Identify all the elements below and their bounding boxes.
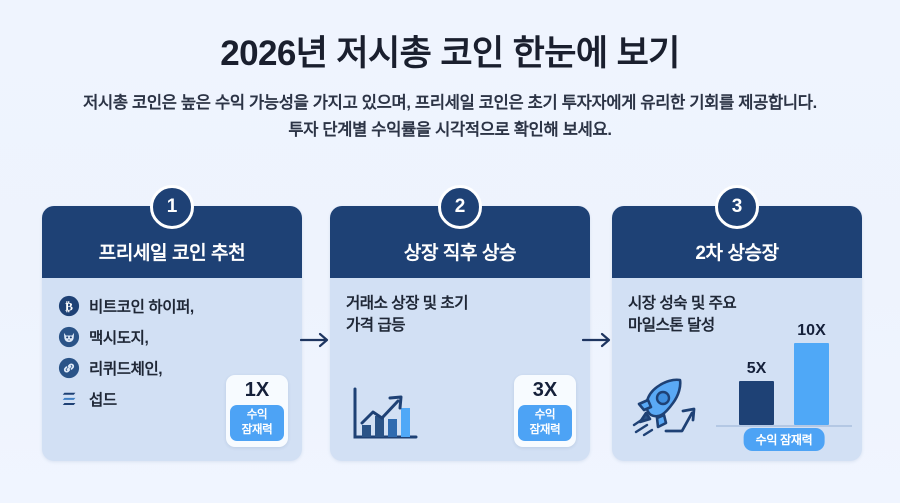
bar-value-label: 10X <box>797 322 825 340</box>
bar-column-10x: 10X <box>794 322 829 425</box>
step-card-1-body: ₿ 비트코인 하이퍼, 맥시도지, <box>42 278 302 461</box>
solana-icon <box>58 388 80 410</box>
bar-value-label: 5X <box>747 360 767 378</box>
profit-potential-pill: 수익 잠재력 <box>744 428 825 451</box>
coin-name: 리퀴드체인, <box>89 357 162 379</box>
step-card-3-body: 시장 성숙 및 주요 마일스톤 달성 <box>612 278 862 461</box>
multiplier-value: 3X <box>518 380 572 401</box>
description-line-1: 시장 성숙 및 주요 <box>628 293 846 315</box>
list-item: 맥시도지, <box>58 326 286 348</box>
profit-potential-pill: 수익 잠재력 <box>518 405 572 441</box>
chain-link-icon <box>58 357 80 379</box>
step-card-2: 2 상장 직후 상승 거래소 상장 및 초기 가격 급등 <box>330 206 590 461</box>
multiplier-value: 1X <box>230 380 284 401</box>
coin-name: 맥시도지, <box>89 326 148 348</box>
bar-chart-plot-area: 5X 10X <box>716 335 852 427</box>
step-number-3: 3 <box>715 185 759 229</box>
pill-line-2: 잠재력 <box>520 423 570 437</box>
shiba-dog-icon <box>58 326 80 348</box>
profit-bar-chart: 5X 10X 수익 잠재력 <box>716 327 852 453</box>
arrow-step2-to-step3 <box>582 330 614 350</box>
arrow-step1-to-step2 <box>300 330 332 350</box>
page-title: 2026년 저시총 코인 한눈에 보기 <box>0 34 900 74</box>
rocket-icon <box>624 369 706 441</box>
step-card-1-title: 프리세일 코인 추천 <box>99 238 245 265</box>
steps-row: 1 프리세일 코인 추천 ₿ 비트코인 하이퍼, <box>0 196 900 466</box>
status-badge: 1X 수익 잠재력 <box>226 375 288 447</box>
pill-line-1: 수익 <box>520 408 570 422</box>
step-card-3: 3 2차 상승장 시장 성숙 및 주요 마일스톤 달성 <box>612 206 862 461</box>
description-line-2: 가격 급등 <box>346 315 574 337</box>
description-line-1: 거래소 상장 및 초기 <box>346 293 574 315</box>
growth-bar-chart-icon <box>348 385 420 445</box>
bitcoin-icon: ₿ <box>58 295 80 317</box>
infographic-page: 2026년 저시총 코인 한눈에 보기 저시총 코인은 높은 수익 가능성을 가… <box>0 0 900 503</box>
step-card-2-body: 거래소 상장 및 초기 가격 급등 3X 수익 잠재력 <box>330 278 590 461</box>
pill-line-2: 잠재력 <box>232 423 282 437</box>
step-card-2-description: 거래소 상장 및 초기 가격 급등 <box>346 293 574 337</box>
step-number-2: 2 <box>438 185 482 229</box>
pill-line-1: 수익 <box>232 408 282 422</box>
coin-name: 비트코인 하이퍼, <box>89 295 194 317</box>
header: 2026년 저시총 코인 한눈에 보기 저시총 코인은 높은 수익 가능성을 가… <box>0 0 900 144</box>
page-subtitle: 저시총 코인은 높은 수익 가능성을 가지고 있으며, 프리세일 코인은 초기 … <box>80 90 820 143</box>
bar-10x <box>794 343 829 425</box>
list-item: ₿ 비트코인 하이퍼, <box>58 295 286 317</box>
svg-text:₿: ₿ <box>65 300 73 314</box>
bar-5x <box>739 381 774 425</box>
step-number-1: 1 <box>150 185 194 229</box>
step-card-3-title: 2차 상승장 <box>695 238 778 265</box>
coin-name: 섭드 <box>89 388 117 410</box>
bar-column-5x: 5X <box>739 360 774 425</box>
step-card-1: 1 프리세일 코인 추천 ₿ 비트코인 하이퍼, <box>42 206 302 461</box>
status-badge: 3X 수익 잠재력 <box>514 375 576 447</box>
step-card-2-title: 상장 직후 상승 <box>404 238 516 265</box>
profit-potential-pill: 수익 잠재력 <box>230 405 284 441</box>
